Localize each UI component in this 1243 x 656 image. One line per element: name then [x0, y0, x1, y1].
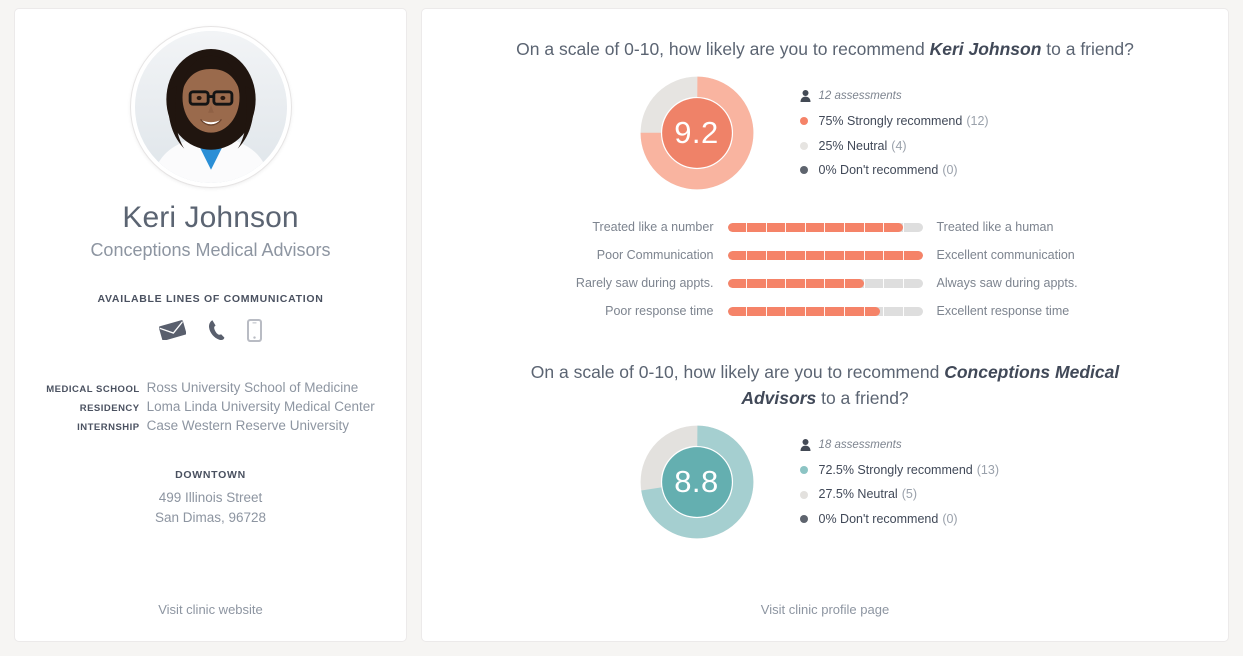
rating-row: Treated like a number Treated like a hum… — [422, 220, 1228, 234]
education-value: Ross University School of Medicine — [147, 378, 375, 397]
legend-item: 27.5% Neutral (5) — [800, 488, 1015, 501]
rating-label-left: Rarely saw during appts. — [523, 276, 728, 290]
question-suffix: to a friend? — [816, 388, 908, 408]
legend-item: 72.5% Strongly recommend (13) — [800, 464, 1015, 477]
rating-row: Rarely saw during appts. Always saw duri… — [422, 276, 1228, 290]
question-suffix: to a friend? — [1041, 39, 1133, 59]
legend-label: 0% Don't recommend — [819, 513, 939, 526]
person-icon — [800, 439, 811, 451]
education-value: Case Western Reserve University — [147, 416, 375, 435]
legend-label: 0% Don't recommend — [819, 164, 939, 177]
education-row: INTERNSHIP Case Western Reserve Universi… — [46, 416, 375, 435]
rating-ticks — [728, 279, 923, 288]
assessments-text: 18 assessments — [819, 439, 902, 451]
nps-legend-clinic: 18 assessments 72.5% Strongly recommend … — [800, 439, 1015, 526]
rating-track — [728, 223, 923, 232]
rating-row: Poor Communication Excellent communicati… — [422, 248, 1228, 262]
question-prefix: On a scale of 0-10, how likely are you t… — [516, 39, 929, 59]
legend-dot-neutral — [800, 491, 808, 499]
education-row: RESIDENCY Loma Linda University Medical … — [46, 397, 375, 416]
rating-track — [728, 307, 923, 316]
communication-icons — [159, 319, 262, 342]
rating-row: Poor response time Excellent response ti… — [422, 304, 1228, 318]
nps-score-provider: 9.2 — [636, 72, 758, 194]
legend-dot-dont-recommend — [800, 166, 808, 174]
assessments-count-provider: 12 assessments — [800, 90, 1015, 102]
education-key: INTERNSHIP — [46, 416, 146, 435]
rating-label-left: Treated like a number — [523, 220, 728, 234]
education-key: RESIDENCY — [46, 397, 146, 416]
legend-count: (5) — [902, 488, 917, 501]
assessments-text: 12 assessments — [819, 90, 902, 102]
legend-item: 0% Don't recommend (0) — [800, 164, 1015, 177]
avatar — [131, 27, 291, 187]
avatar-photo — [135, 31, 287, 183]
address-city-state-zip: San Dimas, 96728 — [155, 508, 266, 529]
question-subject: Keri Johnson — [930, 39, 1042, 59]
clinic-profile-footer: Visit clinic profile page — [422, 601, 1228, 641]
question-prefix: On a scale of 0-10, how likely are you t… — [531, 362, 944, 382]
nps-summary-clinic: 8.8 18 assessments 72.5% Strongly recomm… — [422, 421, 1228, 543]
assessments-count-clinic: 18 assessments — [800, 439, 1015, 451]
education-row: MEDICAL SCHOOL Ross University School of… — [46, 378, 375, 397]
education-table: MEDICAL SCHOOL Ross University School of… — [46, 378, 375, 435]
address-street: 499 Illinois Street — [155, 488, 266, 509]
legend-count: (4) — [891, 140, 906, 153]
nps-donut-provider: 9.2 — [636, 72, 758, 194]
survey-card: On a scale of 0-10, how likely are you t… — [421, 8, 1229, 642]
rating-label-right: Treated like a human — [923, 220, 1128, 234]
legend-item: 0% Don't recommend (0) — [800, 513, 1015, 526]
legend-item: 75% Strongly recommend (12) — [800, 115, 1015, 128]
legend-label: 72.5% Strongly recommend — [819, 464, 973, 477]
phone-icon[interactable] — [208, 319, 225, 341]
nps-donut-clinic: 8.8 — [636, 421, 758, 543]
legend-count: (12) — [966, 115, 988, 128]
survey-question-clinic: On a scale of 0-10, how likely are you t… — [505, 360, 1145, 411]
provider-organization: Conceptions Medical Advisors — [90, 240, 330, 261]
legend-item: 25% Neutral (4) — [800, 140, 1015, 153]
rating-track — [728, 251, 923, 260]
survey-question-provider: On a scale of 0-10, how likely are you t… — [516, 37, 1134, 62]
visit-clinic-profile-link[interactable]: Visit clinic profile page — [761, 602, 889, 617]
legend-dot-strongly — [800, 117, 808, 125]
rating-label-left: Poor Communication — [523, 248, 728, 262]
provider-card: Keri Johnson Conceptions Medical Advisor… — [14, 8, 407, 642]
mobile-icon[interactable] — [247, 319, 262, 342]
rating-ticks — [728, 251, 923, 260]
legend-dot-strongly — [800, 466, 808, 474]
address-title: DOWNTOWN — [155, 469, 266, 481]
nps-summary-provider: 9.2 12 assessments 75% Strongly recommen… — [422, 72, 1228, 194]
rating-sliders: Treated like a number Treated like a hum… — [422, 220, 1228, 318]
clinic-website-footer: Visit clinic website — [158, 601, 263, 641]
page-container: Keri Johnson Conceptions Medical Advisor… — [0, 0, 1243, 656]
legend-label: 75% Strongly recommend — [819, 115, 963, 128]
nps-score-clinic: 8.8 — [636, 421, 758, 543]
rating-ticks — [728, 223, 923, 232]
rating-label-left: Poor response time — [523, 304, 728, 318]
email-icon[interactable] — [159, 320, 186, 340]
communication-label: AVAILABLE LINES OF COMMUNICATION — [98, 293, 324, 305]
rating-track — [728, 279, 923, 288]
visit-clinic-website-link[interactable]: Visit clinic website — [158, 602, 263, 617]
rating-label-right: Excellent communication — [923, 248, 1128, 262]
rating-ticks — [728, 307, 923, 316]
provider-name: Keri Johnson — [122, 201, 298, 236]
legend-dot-neutral — [800, 142, 808, 150]
education-value: Loma Linda University Medical Center — [147, 397, 375, 416]
rating-label-right: Excellent response time — [923, 304, 1128, 318]
education-key: MEDICAL SCHOOL — [46, 378, 146, 397]
legend-dot-dont-recommend — [800, 515, 808, 523]
nps-legend-provider: 12 assessments 75% Strongly recommend (1… — [800, 90, 1015, 177]
person-icon — [800, 90, 811, 102]
legend-count: (0) — [942, 164, 957, 177]
legend-label: 27.5% Neutral — [819, 488, 898, 501]
legend-count: (0) — [942, 513, 957, 526]
legend-count: (13) — [977, 464, 999, 477]
address-block: DOWNTOWN 499 Illinois Street San Dimas, … — [155, 469, 266, 530]
legend-label: 25% Neutral — [819, 140, 888, 153]
rating-label-right: Always saw during appts. — [923, 276, 1128, 290]
